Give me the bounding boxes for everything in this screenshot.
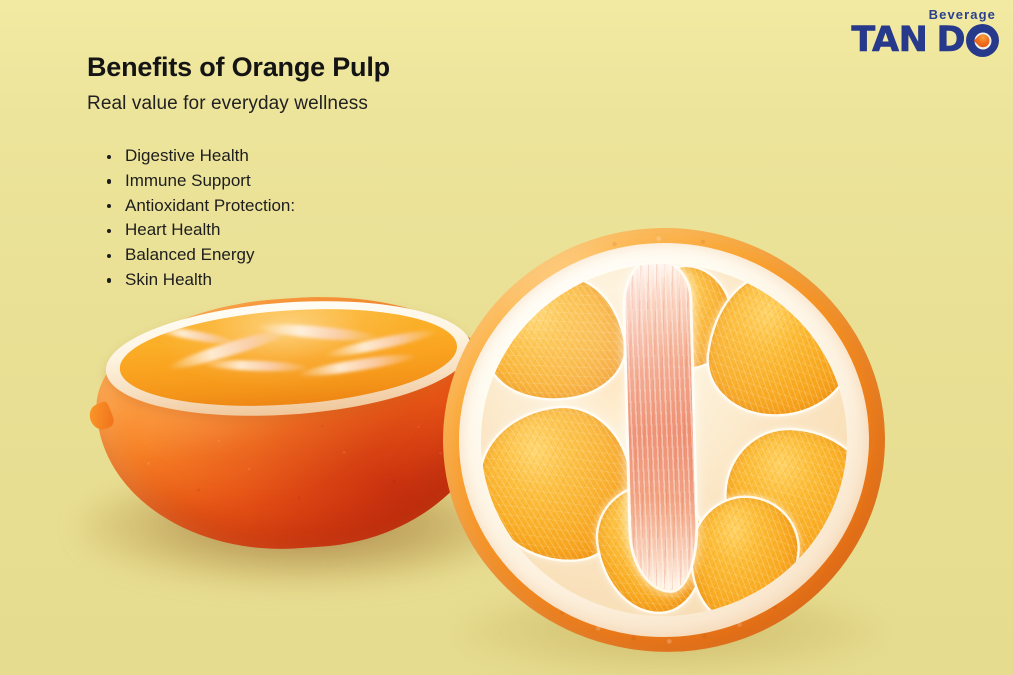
page-subtitle: Real value for everyday wellness <box>87 93 368 115</box>
list-item: Immune Support <box>107 169 295 194</box>
list-item: Digestive Health <box>107 144 295 169</box>
orange-central-core <box>624 259 697 591</box>
logo-letter-o-droplet-icon <box>966 24 999 57</box>
orange-half-cut-face-image <box>438 222 891 657</box>
back-membrane-streak <box>152 324 238 348</box>
logo-tagline: Beverage <box>851 8 999 21</box>
droplet-icon <box>973 31 991 49</box>
brand-logo: Beverage TAN D <box>851 8 999 57</box>
list-item: Skin Health <box>107 268 295 293</box>
page-title: Benefits of Orange Pulp <box>87 52 390 83</box>
list-item: Balanced Energy <box>107 243 295 268</box>
logo-letter-d: D <box>936 24 965 56</box>
slide-canvas: Benefits of Orange Pulp Real value for e… <box>0 0 1013 675</box>
back-membrane-streak <box>257 321 378 343</box>
orange-segment <box>478 270 632 409</box>
logo-word-tan: TAN <box>851 24 927 56</box>
back-membrane-streak <box>298 351 416 380</box>
back-membrane-streak <box>204 359 308 373</box>
list-item: Antioxidant Protection: <box>107 194 295 219</box>
list-item: Heart Health <box>107 218 295 243</box>
logo-wordmark: TAN D <box>851 24 999 57</box>
benefits-list: Digestive Health Immune Support Antioxid… <box>107 144 295 293</box>
